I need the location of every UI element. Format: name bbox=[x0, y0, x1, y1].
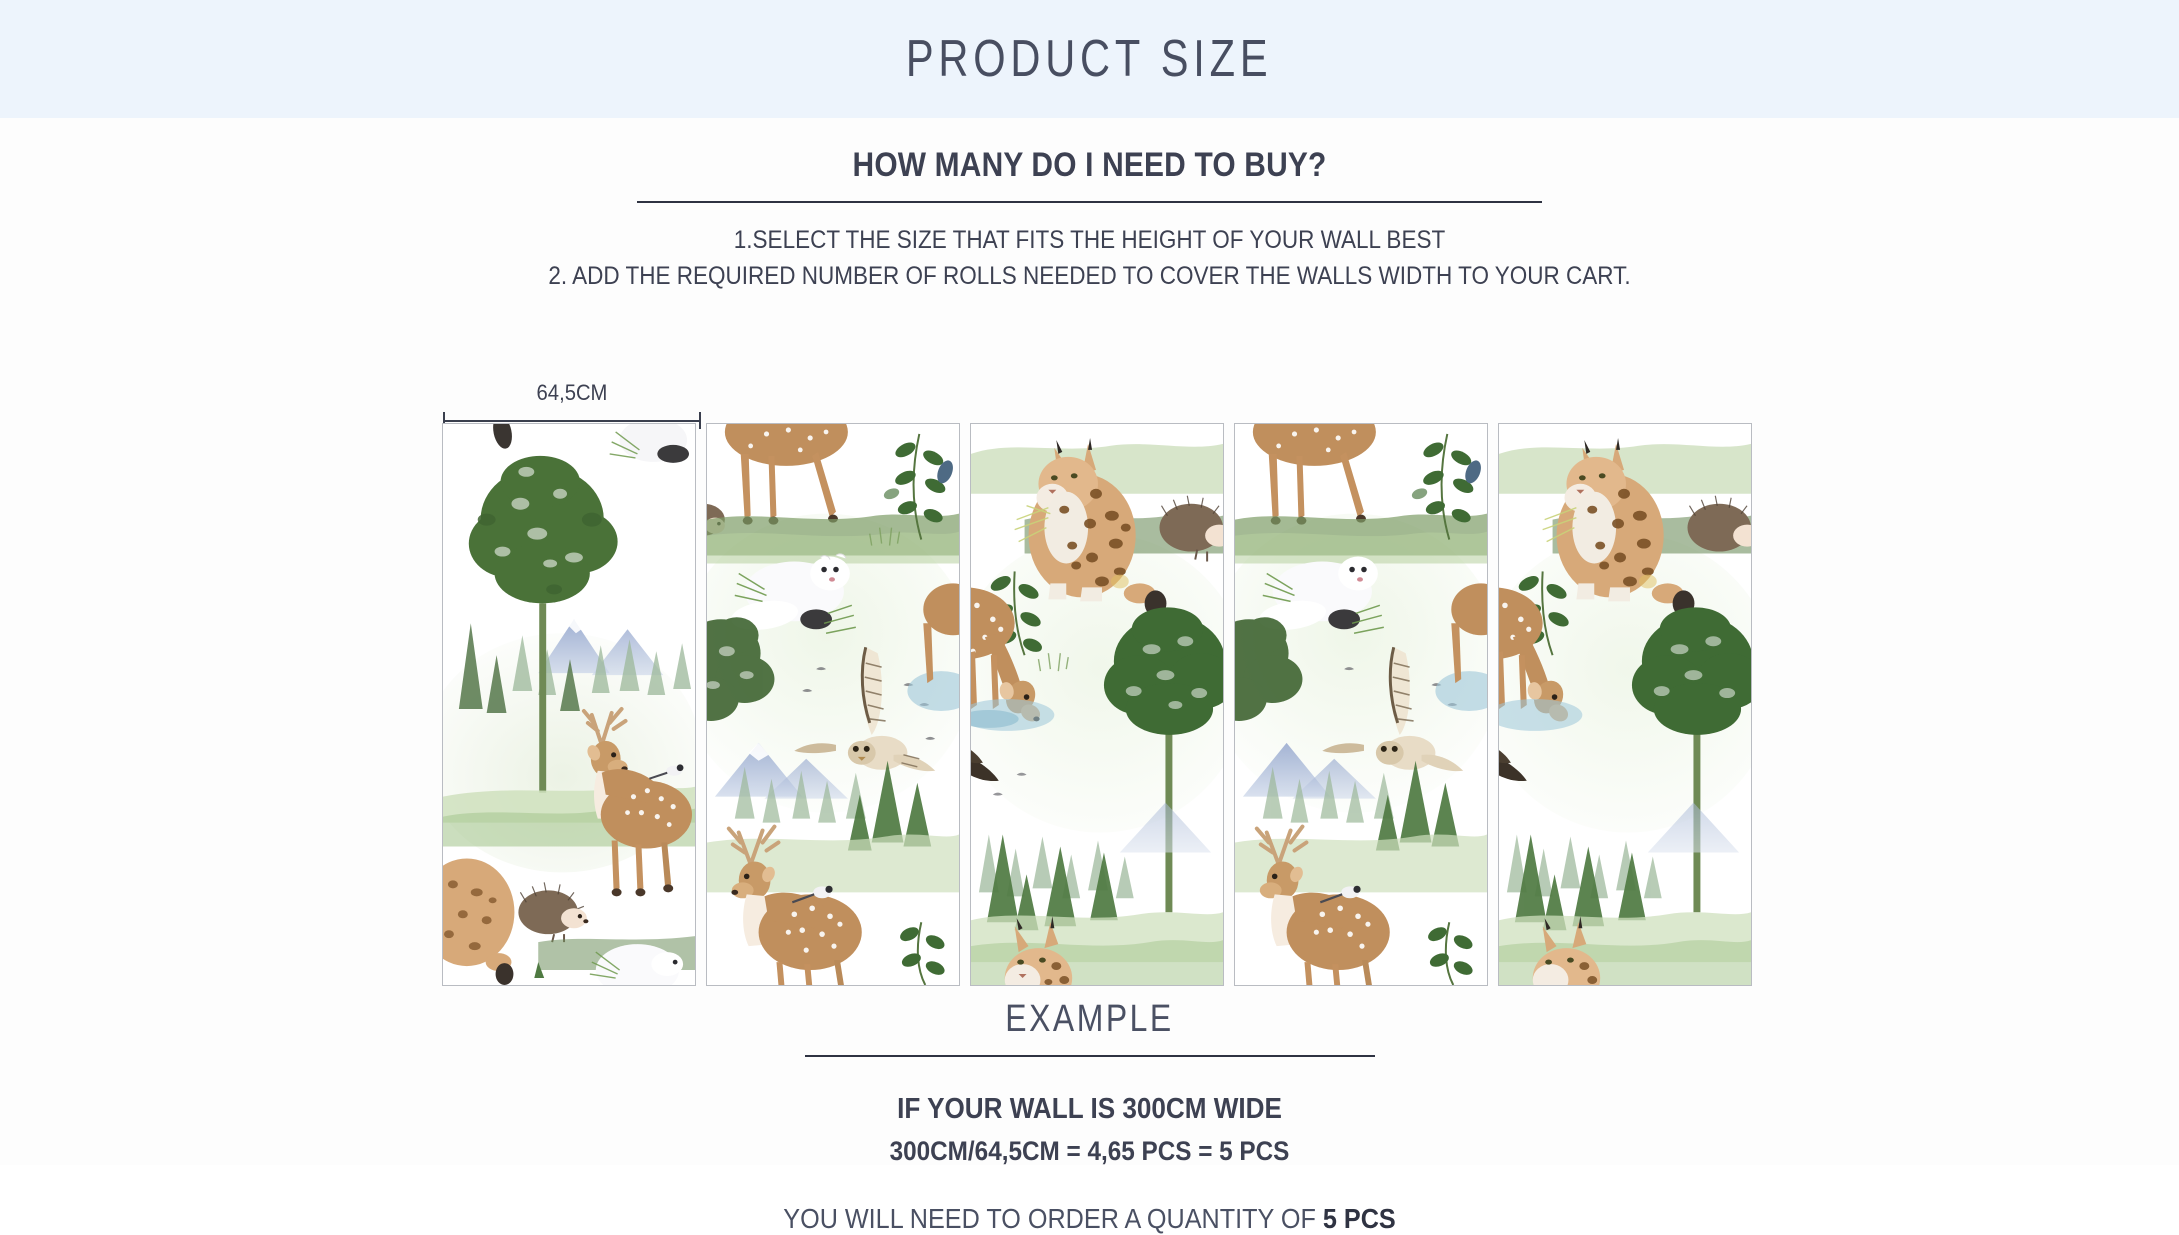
example-wall-width: IF YOUR WALL IS 300CM WIDE bbox=[109, 1093, 2070, 1126]
example-order-prefix: YOU WILL NEED TO ORDER A QUANTITY OF bbox=[783, 1203, 1323, 1234]
wallpaper-panel-1[interactable] bbox=[442, 423, 696, 986]
ruler-line bbox=[443, 420, 701, 422]
wallpaper-panel-strip bbox=[442, 423, 1752, 986]
wallpaper-panel-2[interactable] bbox=[706, 423, 960, 986]
instruction-step-1: 1.SELECT THE SIZE THAT FITS THE HEIGHT O… bbox=[109, 223, 2070, 259]
example-divider bbox=[805, 1055, 1375, 1057]
instructions-heading: HOW MANY DO I NEED TO BUY? bbox=[131, 118, 2049, 185]
example-calculation: 300CM/64,5CM = 4,65 PCS = 5 PCS bbox=[109, 1136, 2070, 1167]
product-size-header: PRODUCT SIZE bbox=[0, 0, 2179, 118]
heading-divider bbox=[637, 201, 1542, 203]
instruction-steps: 1.SELECT THE SIZE THAT FITS THE HEIGHT O… bbox=[0, 223, 2179, 294]
wallpaper-panel-5[interactable] bbox=[1498, 423, 1752, 986]
roll-width-label: 64,5CM bbox=[453, 380, 690, 406]
wallpaper-panel-3[interactable] bbox=[970, 423, 1224, 986]
roll-width-ruler: 64,5CM bbox=[443, 380, 701, 428]
wallpaper-panel-4[interactable] bbox=[1234, 423, 1488, 986]
example-order-quantity: YOU WILL NEED TO ORDER A QUANTITY OF 5 P… bbox=[109, 1203, 2070, 1235]
instruction-step-2: 2. ADD THE REQUIRED NUMBER OF ROLLS NEED… bbox=[109, 259, 2070, 295]
instructions-block: HOW MANY DO I NEED TO BUY? 1.SELECT THE … bbox=[0, 118, 2179, 294]
example-order-amount: 5 PCS bbox=[1323, 1203, 1396, 1234]
example-title: EXAMPLE bbox=[174, 998, 2004, 1041]
page-body: HOW MANY DO I NEED TO BUY? 1.SELECT THE … bbox=[0, 118, 2179, 1165]
page-title: PRODUCT SIZE bbox=[906, 29, 1273, 89]
example-block: EXAMPLE IF YOUR WALL IS 300CM WIDE 300CM… bbox=[0, 998, 2179, 1235]
